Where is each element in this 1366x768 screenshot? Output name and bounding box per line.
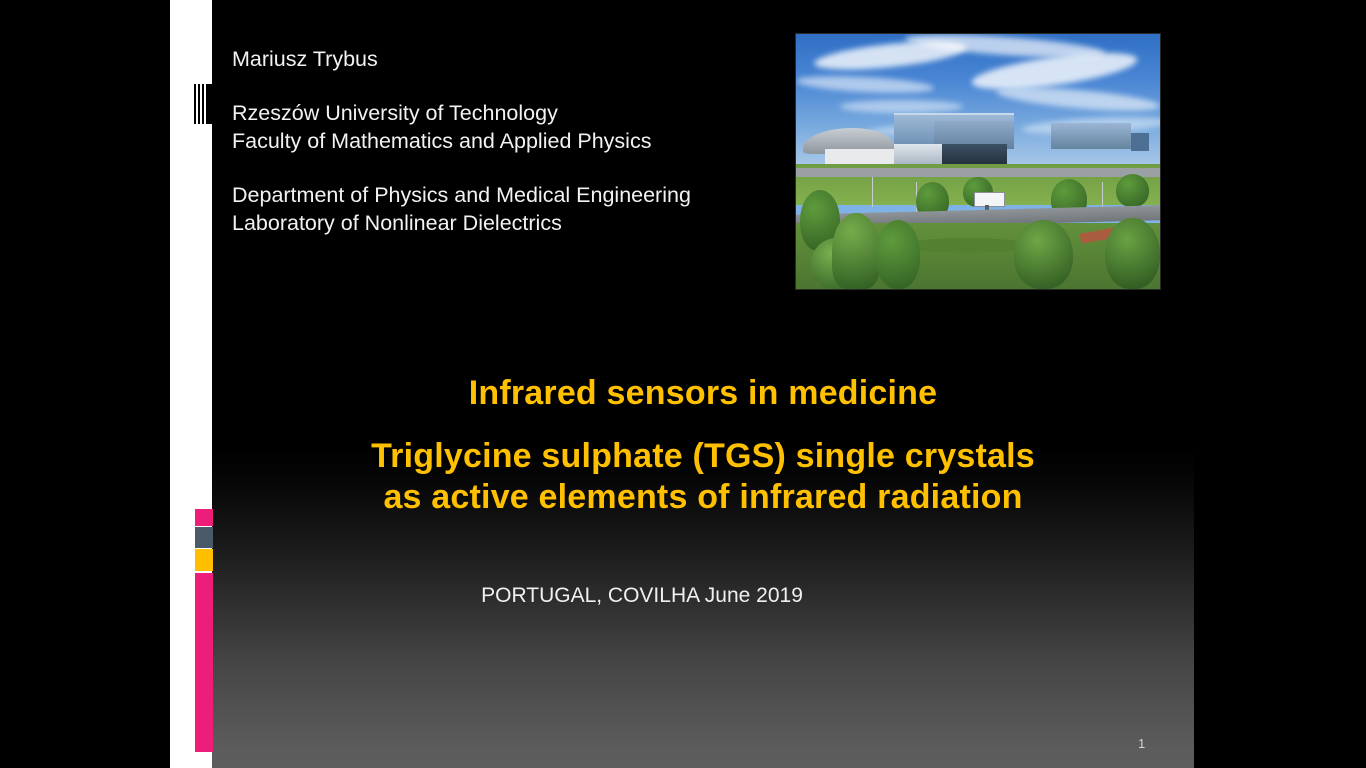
photo-building <box>1131 133 1149 151</box>
page-number: 1 <box>1138 736 1145 751</box>
spacer <box>232 155 792 181</box>
faculty-name: Faculty of Mathematics and Applied Physi… <box>232 127 792 155</box>
slide-title-primary: Infrared sensors in medicine <box>212 374 1194 413</box>
barcode-bar <box>202 84 204 124</box>
barcode-bar <box>198 84 200 124</box>
photo-road-upper <box>796 168 1160 177</box>
barcode-bar <box>206 84 215 124</box>
tree-shape <box>1014 220 1072 289</box>
header-text-block: Mariusz Trybus Rzeszów University of Tec… <box>232 45 792 237</box>
university-name: Rzeszów University of Technology <box>232 99 792 127</box>
barcode-bar <box>194 84 196 124</box>
presentation-slide: Mariusz Trybus Rzeszów University of Tec… <box>0 0 1366 768</box>
tree-shape <box>1105 218 1160 289</box>
photo-signboard <box>974 192 1005 207</box>
campus-panorama-photo <box>795 33 1161 290</box>
cloud-shape <box>840 100 964 113</box>
accent-chip-pink-long <box>195 573 213 752</box>
author-name: Mariusz Trybus <box>232 45 792 73</box>
tree-shape <box>876 220 920 289</box>
slide-subtitle: PORTUGAL, COVILHA June 2019 <box>212 584 1072 608</box>
lamp-post <box>872 177 873 208</box>
tree-shape <box>1116 174 1149 207</box>
tree-shape <box>832 213 879 290</box>
photo-right-building <box>1051 123 1131 149</box>
spacer <box>232 73 792 99</box>
accent-chip-pink-top <box>195 509 213 526</box>
barcode-decoration <box>193 84 215 124</box>
slide-title-secondary-line1: Triglycine sulphate (TGS) single crystal… <box>212 436 1194 477</box>
slide-title-secondary: Triglycine sulphate (TGS) single crystal… <box>212 436 1194 518</box>
photo-glass-facade <box>942 144 1008 164</box>
photo-dome-base <box>825 149 898 164</box>
photo-content <box>796 34 1160 289</box>
slide-title-secondary-line2: as active elements of infrared radiation <box>212 477 1194 518</box>
accent-chip-slate <box>195 527 213 548</box>
letterbox-right <box>1194 0 1366 768</box>
accent-chip-amber <box>195 549 213 571</box>
laboratory-name: Laboratory of Nonlinear Dielectrics <box>232 209 792 237</box>
letterbox-left <box>0 0 170 768</box>
department-name: Department of Physics and Medical Engine… <box>232 181 792 209</box>
